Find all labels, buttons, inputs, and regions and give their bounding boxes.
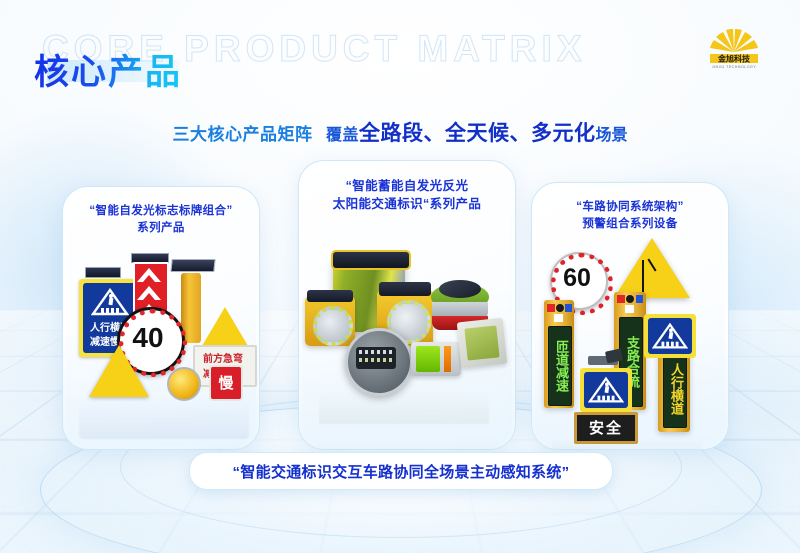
panel-left-caption-line2: 系列产品: [63, 220, 259, 237]
bottom-banner[interactable]: “智能交通标识交互车路协同全场景主动感知系统”: [189, 452, 613, 490]
page-title: 核心产品: [34, 44, 182, 95]
product-panel-right[interactable]: “车路协同系统架构” 预警组合系列设备 60 匝道减速: [531, 182, 729, 450]
subtitle-part3: 全路段、全天候、多元化: [359, 122, 596, 145]
panel-right-caption-line2: 预警组合系列设备: [532, 216, 728, 233]
panel-right-product-image: 60 匝道减速 支路合流: [532, 242, 728, 449]
solar-cell-yellow-left: [307, 290, 353, 302]
product-reflection: [79, 397, 249, 439]
speed-limit-60-value: 60: [552, 254, 602, 304]
product-reflection-mid: [319, 390, 489, 424]
logo-cn-text: 金旭科技: [717, 53, 751, 63]
pedestrian-sign-upper: [648, 318, 692, 354]
pedestrian-crossing-icon-upper: [652, 321, 688, 351]
warning-text-line1: 前方急弯: [197, 350, 249, 365]
panel-right-caption-line1: “车路协同系统架构”: [532, 199, 728, 216]
panel-left-caption-line1: “智能自发光标志标牌组合”: [63, 203, 259, 220]
marker-green-face: [416, 346, 440, 372]
panel-mid-caption-line2: 太阳能交通标识“系列产品: [299, 195, 515, 213]
slow-down-red-sign: 慢: [209, 365, 243, 401]
pedestrian-sign-lower: [584, 372, 628, 408]
vertical-sign-text-right: 人行横道: [663, 350, 687, 428]
warning-triangle-left: [89, 345, 149, 397]
logo-en-text: JINXU TECHNOLOGY: [712, 65, 757, 69]
product-panel-middle[interactable]: “智能蓄能自发光反光 太阳能交通标识“系列产品: [298, 160, 516, 450]
subtitle-part4: 场景: [595, 127, 627, 144]
marker-b-face: [464, 326, 499, 361]
panel-left-product-image: 人行横道 减速慢行 40 前: [63, 245, 259, 449]
vertical-sign-pillar-left: 匝道减速: [544, 300, 574, 408]
panel-mid-caption: “智能蓄能自发光反光 太阳能交通标识“系列产品: [299, 177, 515, 213]
solar-panel-small: [85, 267, 121, 278]
amber-warning-lamp: [167, 367, 201, 401]
subtitle-part2: 覆盖: [326, 127, 359, 144]
pedestrian-crossing-icon-lower: [588, 375, 624, 405]
product-panel-left[interactable]: “智能自发光标志标牌组合” 系列产品 人行横道 减速慢行: [62, 186, 260, 450]
vertical-sign-text-left: 匝道减速: [548, 326, 572, 406]
panel-left-caption: “智能自发光标志标牌组合” 系列产品: [63, 203, 259, 236]
panel-mid-caption-line1: “智能蓄能自发光反光: [299, 177, 515, 195]
slide-root: CORE PRODUCT MATRIX 核心产品 金旭科技 JINXU TECH…: [0, 0, 800, 553]
company-logo: 金旭科技 JINXU TECHNOLOGY: [694, 26, 774, 70]
product-reflection-right: [552, 438, 702, 450]
reflective-marker-b: [457, 318, 508, 369]
solar-cell-yellow-right: [379, 282, 431, 296]
merge-arrow-icon: [642, 260, 644, 292]
solar-panel-large: [170, 259, 215, 272]
reflective-marker-a: [411, 342, 461, 376]
sunburst-icon: 金旭科技 JINXU TECHNOLOGY: [694, 26, 774, 70]
panel-mid-product-image: [299, 224, 515, 449]
subtitle: 三大核心产品矩阵 覆盖全路段、全天候、多元化场景: [0, 117, 800, 147]
marker-orange-face: [444, 346, 451, 372]
solar-cell-top-large: [331, 250, 411, 270]
panel-right-caption: “车路协同系统架构” 预警组合系列设备: [532, 199, 728, 232]
bottom-banner-text: “智能交通标识交互车路协同全场景主动感知系统”: [233, 461, 570, 482]
led-module-circular: [345, 328, 413, 396]
subtitle-part1: 三大核心产品矩阵: [173, 125, 313, 144]
